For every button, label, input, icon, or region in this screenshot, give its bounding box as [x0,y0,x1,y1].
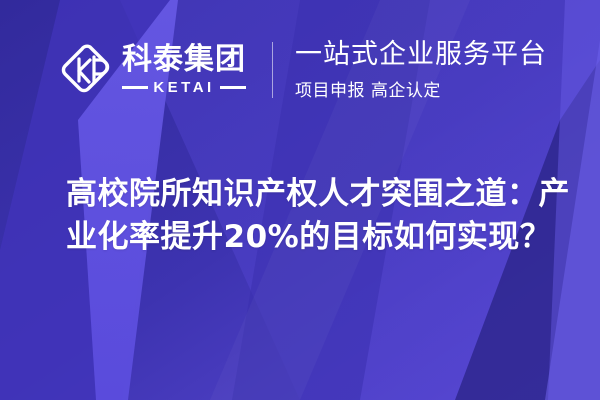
logo-company-en: KETAI [153,80,214,95]
ketai-logo-icon [60,43,112,97]
logo-en-row: KETAI [122,80,246,95]
logo-wordmark: 科泰集团 KETAI [122,45,246,95]
article-title: 高校院所知识产权人才突围之道：产业化率提升20%的目标如何实现？ [66,173,578,259]
header-slogan: 一站式企业服务平台 项目申报 高企认定 [295,39,547,101]
logo-dash-left [122,86,148,89]
logo-company-cn: 科泰集团 [122,45,246,75]
banner-header: 科泰集团 KETAI 一站式企业服务平台 项目申报 高企认定 [0,0,600,140]
header-divider [272,42,273,98]
slogan-sub-text: 项目申报 高企认定 [295,76,547,101]
slogan-main-text: 一站式企业服务平台 [295,39,547,70]
promo-banner: 科泰集团 KETAI 一站式企业服务平台 项目申报 高企认定 高校院所知识产权人… [0,0,600,400]
brand-logo[interactable]: 科泰集团 KETAI [60,43,246,97]
logo-dash-right [220,86,246,89]
title-area: 高校院所知识产权人才突围之道：产业化率提升20%的目标如何实现？ [66,152,578,279]
